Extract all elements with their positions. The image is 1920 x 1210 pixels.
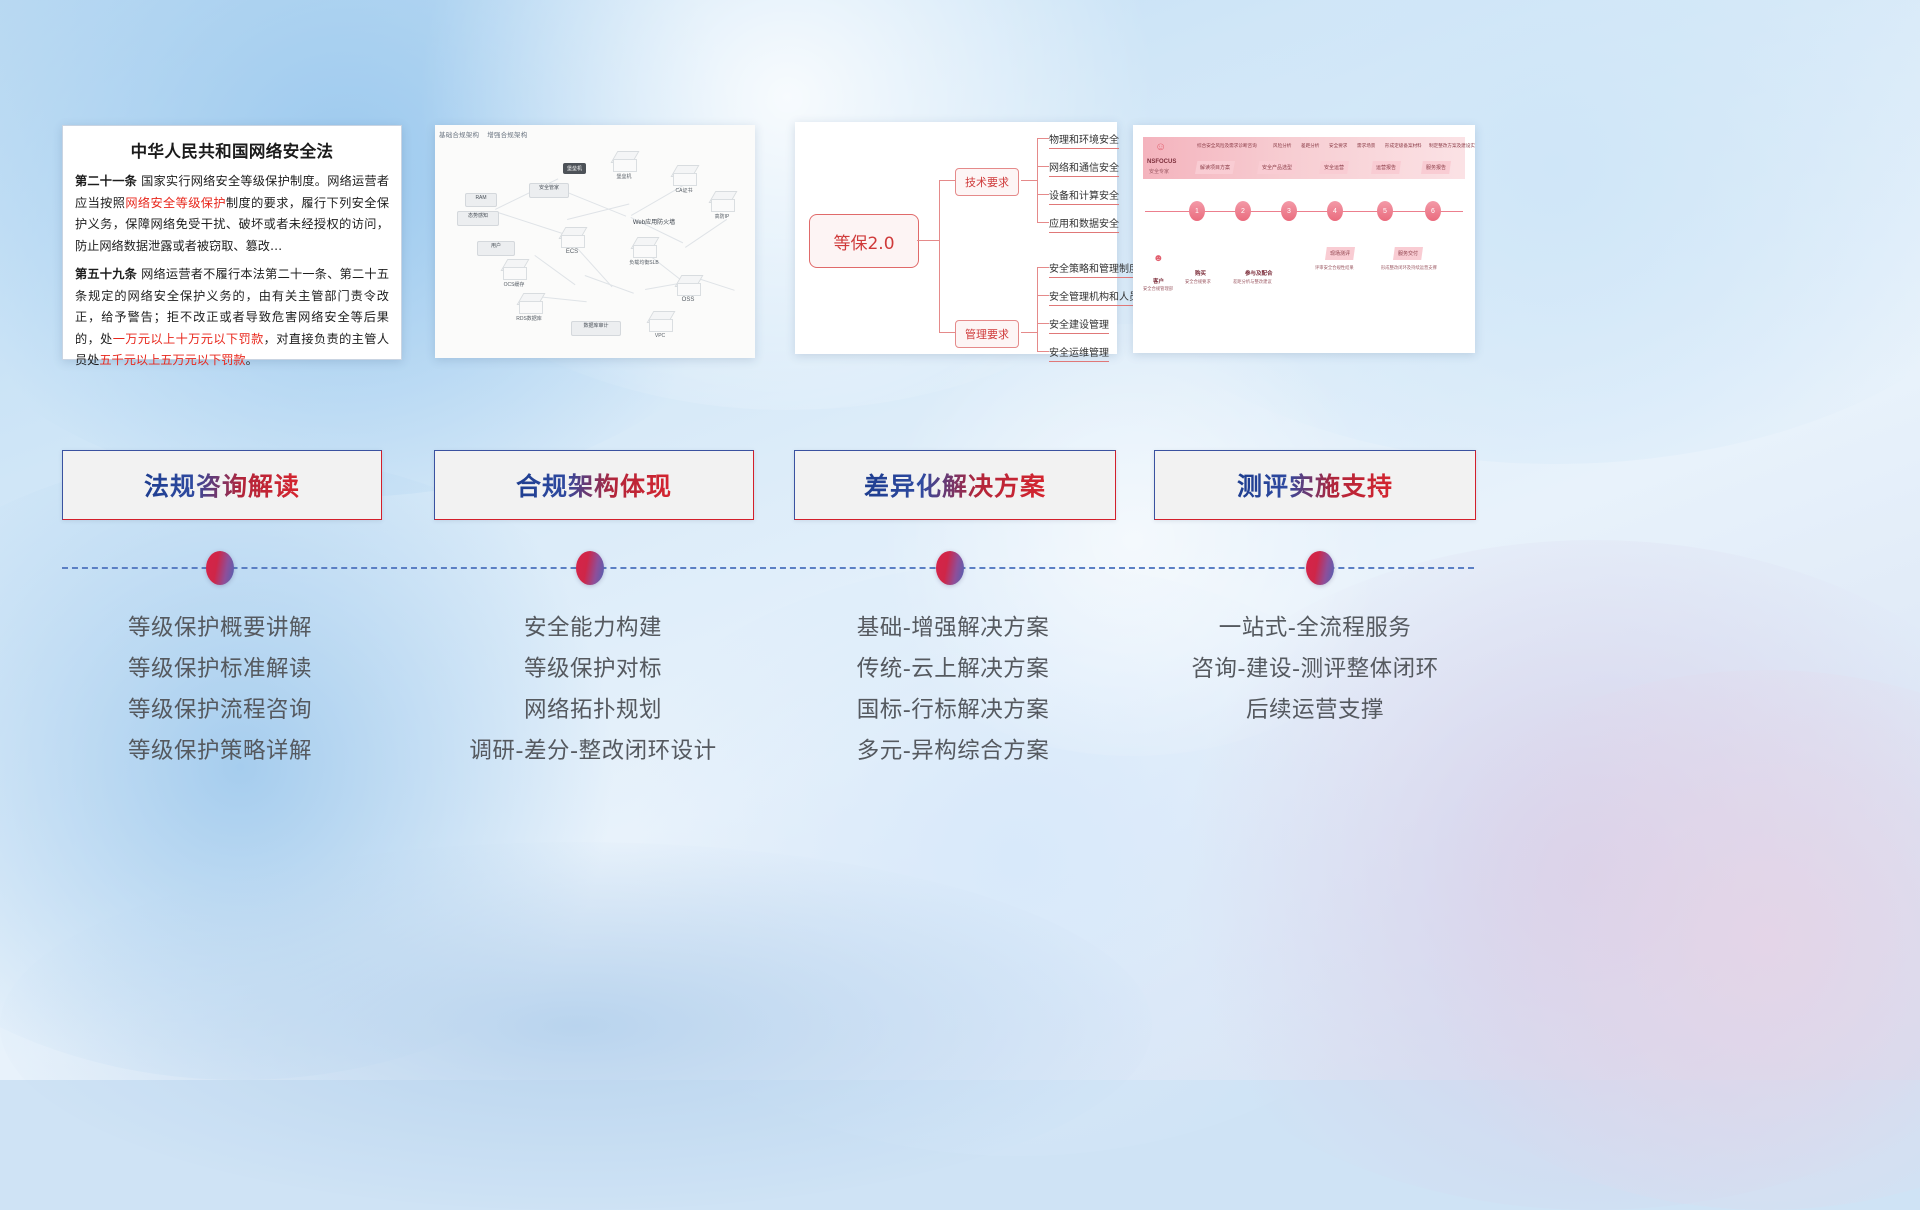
list-item: 调研-差分-整改闭环设计	[430, 731, 756, 772]
law-body: 第二十一条 国家实行网络安全等级保护制度。网络运营者应当按照网络安全等级保护制度…	[63, 171, 401, 372]
list-item: 等级保护标准解读	[60, 649, 380, 690]
list-item: 等级保护概要讲解	[60, 608, 380, 649]
list-item: 等级保护流程咨询	[60, 690, 380, 731]
mindmap-leaf-operation: 安全运维管理	[1049, 344, 1109, 362]
roadmap-bl-0-sub: 安全合规要求	[1185, 279, 1211, 285]
roadmap-phase-4: 服务报告	[1421, 161, 1451, 174]
mindmap-leaf-policy: 安全策略和管理制度	[1049, 260, 1139, 278]
arch-label-oss: OSS	[671, 297, 705, 303]
roadmap-phase-3: 运营报告	[1371, 161, 1401, 174]
mindmap-branch-management: 管理要求	[955, 320, 1019, 348]
article-21-highlight: 网络安全等级保护	[125, 196, 226, 210]
card-compliance-architecture: 基础合规架构增强合规架构 堡垒机 安全管家 RAM 态势感知 用户 堡垒机	[435, 125, 755, 358]
roadmap-customer-sub: 安全合规管理部	[1143, 286, 1173, 292]
button-label: 合规架构体现	[516, 467, 672, 503]
mindmap-leaf-physical: 物理和环境安全	[1049, 131, 1119, 149]
architecture-header-right: 增强合规架构	[487, 132, 527, 139]
mindmap-root: 等保2.0	[809, 214, 919, 268]
list-column-2: 安全能力构建 等级保护对标 网络拓扑规划 调研-差分-整改闭环设计	[430, 608, 756, 772]
architecture-diagram: 基础合规架构增强合规架构 堡垒机 安全管家 RAM 态势感知 用户 堡垒机	[435, 125, 755, 358]
card-cybersecurity-law: 中华人民共和国网络安全法 第二十一条 国家实行网络安全等级保护制度。网络运营者应…	[62, 125, 402, 360]
card-dengbao-mindmap: 等保2.0 技术要求 管理要求 物理和环境安全 网络和通信安全 设备和计算安全 …	[795, 122, 1117, 354]
arch-label-ecs: ECS	[555, 249, 589, 255]
roadmap-br-1-sub: 形成整改闭环及持续运营支撑	[1381, 265, 1437, 271]
button-label: 差异化解决方案	[864, 467, 1046, 503]
button-compliance-architecture[interactable]: 合规架构体现	[434, 450, 754, 520]
customer-icon: ☻	[1153, 253, 1164, 264]
roadmap-phase-0: 解读项目方案	[1195, 161, 1235, 174]
roadmap-brand: NSFOCUS	[1147, 159, 1176, 165]
roadmap-step-5: 5	[1377, 201, 1393, 221]
button-label: 测评实施支持	[1237, 467, 1393, 503]
list-item: 安全能力构建	[430, 608, 756, 649]
list-item: 后续运营支撑	[1150, 690, 1480, 731]
roadmap-bl-1-title: 参与及配合	[1245, 269, 1273, 277]
arch-label-vpc: VPC	[643, 333, 677, 339]
mindmap-leaf-construction: 安全建设管理	[1049, 316, 1109, 334]
arch-label-waf: Web应用防火墙	[625, 217, 683, 226]
arch-label-antiddos: 高防IP	[701, 213, 743, 220]
list-column-1: 等级保护概要讲解 等级保护标准解读 等级保护流程咨询 等级保护策略详解	[60, 608, 380, 772]
list-item: 传统-云上解决方案	[790, 649, 1116, 690]
timeline-dot-4[interactable]	[1306, 551, 1334, 585]
timeline-dot-1[interactable]	[206, 551, 234, 585]
roadmap-bl-1-sub: 差距分析与整改建议	[1233, 279, 1272, 285]
roadmap-step-1: 1	[1189, 201, 1205, 221]
arch-node-situational: 态势感知	[457, 211, 499, 226]
roadmap-step-3: 3	[1281, 201, 1297, 221]
law-article-21: 第二十一条 国家实行网络安全等级保护制度。网络运营者应当按照网络安全等级保护制度…	[75, 171, 389, 257]
button-assessment-support[interactable]: 测评实施支持	[1154, 450, 1476, 520]
list-item: 等级保护对标	[430, 649, 756, 690]
article-59-fine-1: 一万元以上十万元以下罚款	[113, 332, 264, 346]
list-item: 多元-异构综合方案	[790, 731, 1116, 772]
roadmap-phase-1: 安全产品选型	[1257, 161, 1297, 174]
mindmap-branch-technical: 技术要求	[955, 168, 1019, 196]
architecture-header-left: 基础合规架构	[439, 132, 479, 139]
arch-node-dbaudit: 数据库审计	[571, 321, 621, 336]
architecture-header: 基础合规架构增强合规架构	[439, 129, 535, 139]
roadmap-br-0-title: 现场测评	[1325, 247, 1355, 260]
arch-label-rds: RDS数据库	[501, 315, 557, 322]
list-item: 网络拓扑规划	[430, 690, 756, 731]
roadmap-br-1-title: 服务交付	[1393, 247, 1423, 260]
mindmap-leaf-application: 应用和数据安全	[1049, 215, 1119, 233]
roadmap-diagram: ☺ NSFOCUS 安全专家 综合安全风险及需求诊断咨询 风险分析 差距分析 安…	[1133, 125, 1475, 353]
roadmap-step-2: 2	[1235, 201, 1251, 221]
arch-node-user: 用户	[477, 241, 515, 256]
roadmap-brand-sub: 安全专家	[1149, 168, 1169, 175]
roadmap-bl-0-title: 购买	[1195, 269, 1206, 277]
arch-label-cert: CA证书	[663, 187, 705, 194]
list-item: 咨询-建设-测评整体闭环	[1150, 649, 1480, 690]
article-59-label: 第五十九条	[75, 267, 137, 281]
timeline-dot-2[interactable]	[576, 551, 604, 585]
card-service-roadmap: ☺ NSFOCUS 安全专家 综合安全风险及需求诊断咨询 风险分析 差距分析 安…	[1133, 125, 1475, 353]
roadmap-phase-2: 安全运营	[1319, 161, 1349, 174]
list-item: 等级保护策略详解	[60, 731, 380, 772]
list-item: 基础-增强解决方案	[790, 608, 1116, 649]
list-column-3: 基础-增强解决方案 传统-云上解决方案 国标-行标解决方案 多元-异构综合方案	[790, 608, 1116, 772]
expert-icon: ☺	[1155, 141, 1166, 153]
law-title: 中华人民共和国网络安全法	[63, 138, 401, 162]
mindmap-leaf-network: 网络和通信安全	[1049, 159, 1119, 177]
arch-label-ocs: OCS缓存	[487, 281, 541, 288]
mindmap-leaf-org: 安全管理机构和人员	[1049, 288, 1139, 306]
roadmap-step-4: 4	[1327, 201, 1343, 221]
roadmap-customer: 客户	[1153, 277, 1164, 285]
button-label: 法规咨询解读	[144, 467, 300, 503]
arch-node-secmgr: 堡垒机	[563, 163, 586, 174]
timeline-dot-3[interactable]	[936, 551, 964, 585]
list-item: 一站式-全流程服务	[1150, 608, 1480, 649]
arch-node-secguard: 安全管家	[529, 183, 569, 198]
roadmap-tag-0: 综合安全风险及需求诊断咨询	[1197, 143, 1257, 149]
law-article-59: 第五十九条 网络运营者不履行本法第二十一条、第二十五条规定的网络安全保护义务的，…	[75, 264, 389, 372]
list-item: 国标-行标解决方案	[790, 690, 1116, 731]
timeline-dashed-line	[62, 567, 1474, 569]
article-21-label: 第二十一条	[75, 174, 137, 188]
list-column-4: 一站式-全流程服务 咨询-建设-测评整体闭环 后续运营支撑	[1150, 608, 1480, 731]
roadmap-tag-2: 差距分析	[1301, 143, 1319, 149]
button-regulation-consulting[interactable]: 法规咨询解读	[62, 450, 382, 520]
roadmap-br-0-sub: 评审安全合规性结果	[1315, 265, 1354, 271]
arch-node-ram: RAM	[465, 193, 497, 207]
arch-label-bastion: 堡垒机	[605, 173, 643, 180]
roadmap-tag-4: 需求场景	[1357, 143, 1375, 149]
roadmap-tag-3: 安全要求	[1329, 143, 1347, 149]
article-59-text-c: 。	[246, 353, 258, 367]
roadmap-tag-1: 风险分析	[1273, 143, 1291, 149]
button-differentiated-solution[interactable]: 差异化解决方案	[794, 450, 1116, 520]
mindmap: 等保2.0 技术要求 管理要求 物理和环境安全 网络和通信安全 设备和计算安全 …	[795, 122, 1117, 354]
arch-label-slb: 负载均衡SLB	[611, 259, 677, 266]
mindmap-leaf-device: 设备和计算安全	[1049, 187, 1119, 205]
roadmap-step-6: 6	[1425, 201, 1441, 221]
roadmap-tag-5: 形成定级备案材料	[1385, 143, 1422, 149]
article-59-fine-2: 五千元以上五万元以下罚款	[99, 353, 245, 367]
roadmap-tag-6: 制定整改方案及建设实施计划	[1429, 143, 1475, 149]
